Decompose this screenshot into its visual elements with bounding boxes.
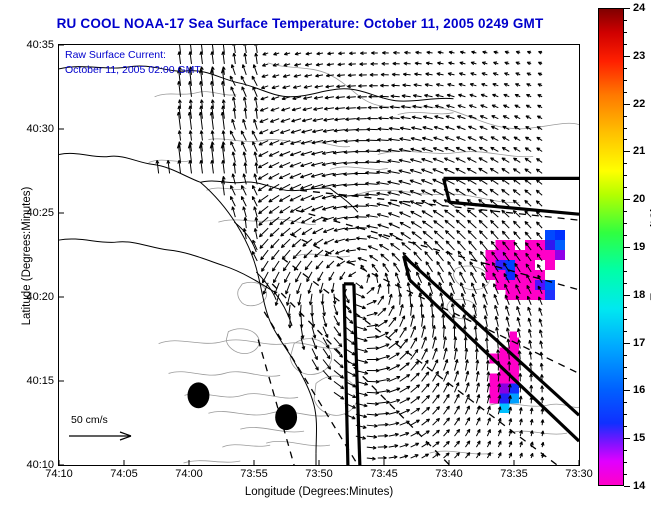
colorbar-tick-mark (624, 390, 630, 391)
colorbar-tick-mark (624, 247, 630, 248)
colorbar-tick-label: 21 (633, 145, 645, 157)
colorbar-minor-tick (624, 355, 627, 356)
colorbar-tick-mark (624, 343, 630, 344)
colorbar-tick-label: 16 (633, 384, 645, 396)
colorbar-tick-mark (624, 295, 630, 296)
colorbar-tick-mark (624, 486, 630, 487)
colorbar-tick-mark (624, 104, 630, 105)
colorbar-minor-tick (624, 462, 627, 463)
colorbar-tick-mark (624, 8, 630, 9)
colorbar-minor-tick (624, 187, 627, 188)
x-axis-tick-labels: 74:1074:0574:0073:5573:5073:4573:4073:35… (0, 0, 651, 519)
colorbar-minor-tick (624, 128, 627, 129)
colorbar-minor-tick (624, 175, 627, 176)
colorbar-tick-mark (624, 438, 630, 439)
colorbar-minor-tick (624, 80, 627, 81)
colorbar-tick-label: 15 (633, 432, 645, 444)
colorbar-tick-mark (624, 151, 630, 152)
colorbar-minor-tick (624, 450, 627, 451)
colorbar-minor-tick (624, 139, 627, 140)
colorbar-tick-mark (624, 56, 630, 57)
colorbar-tick-label: 24 (633, 2, 645, 14)
colorbar-minor-tick (624, 378, 627, 379)
colorbar-minor-tick (624, 426, 627, 427)
colorbar-minor-tick (624, 92, 627, 93)
colorbar-tick-label: 14 (633, 480, 645, 492)
colorbar-minor-tick (624, 319, 627, 320)
colorbar-minor-tick (624, 283, 627, 284)
colorbar-tick-label: 20 (633, 193, 645, 205)
colorbar-minor-tick (624, 32, 627, 33)
x-axis-title: Longitude (Degrees:Minutes) (58, 486, 580, 498)
colorbar-ticks: 2423222120191817161514 (598, 0, 651, 519)
colorbar-minor-tick (624, 259, 627, 260)
y-tick-marks (58, 44, 66, 466)
colorbar-minor-tick (624, 271, 627, 272)
y-axis-title: Latitude (Degrees:Minutes) (21, 136, 33, 376)
colorbar-minor-tick (624, 223, 627, 224)
colorbar-tick-label: 18 (633, 289, 645, 301)
colorbar-minor-tick (624, 68, 627, 69)
x-tick-marks (58, 466, 580, 474)
colorbar-minor-tick (624, 116, 627, 117)
colorbar-tick-label: 23 (633, 50, 645, 62)
colorbar-minor-tick (624, 44, 627, 45)
colorbar-minor-tick (624, 367, 627, 368)
colorbar-tick-label: 22 (633, 98, 645, 110)
colorbar-tick-mark (624, 199, 630, 200)
colorbar-minor-tick (624, 163, 627, 164)
colorbar-minor-tick (624, 20, 627, 21)
colorbar-tick-label: 19 (633, 241, 645, 253)
colorbar-minor-tick (624, 211, 627, 212)
colorbar-minor-tick (624, 474, 627, 475)
colorbar-minor-tick (624, 331, 627, 332)
colorbar-minor-tick (624, 235, 627, 236)
colorbar-minor-tick (624, 414, 627, 415)
colorbar-minor-tick (624, 307, 627, 308)
colorbar-minor-tick (624, 402, 627, 403)
colorbar-tick-label: 17 (633, 337, 645, 349)
